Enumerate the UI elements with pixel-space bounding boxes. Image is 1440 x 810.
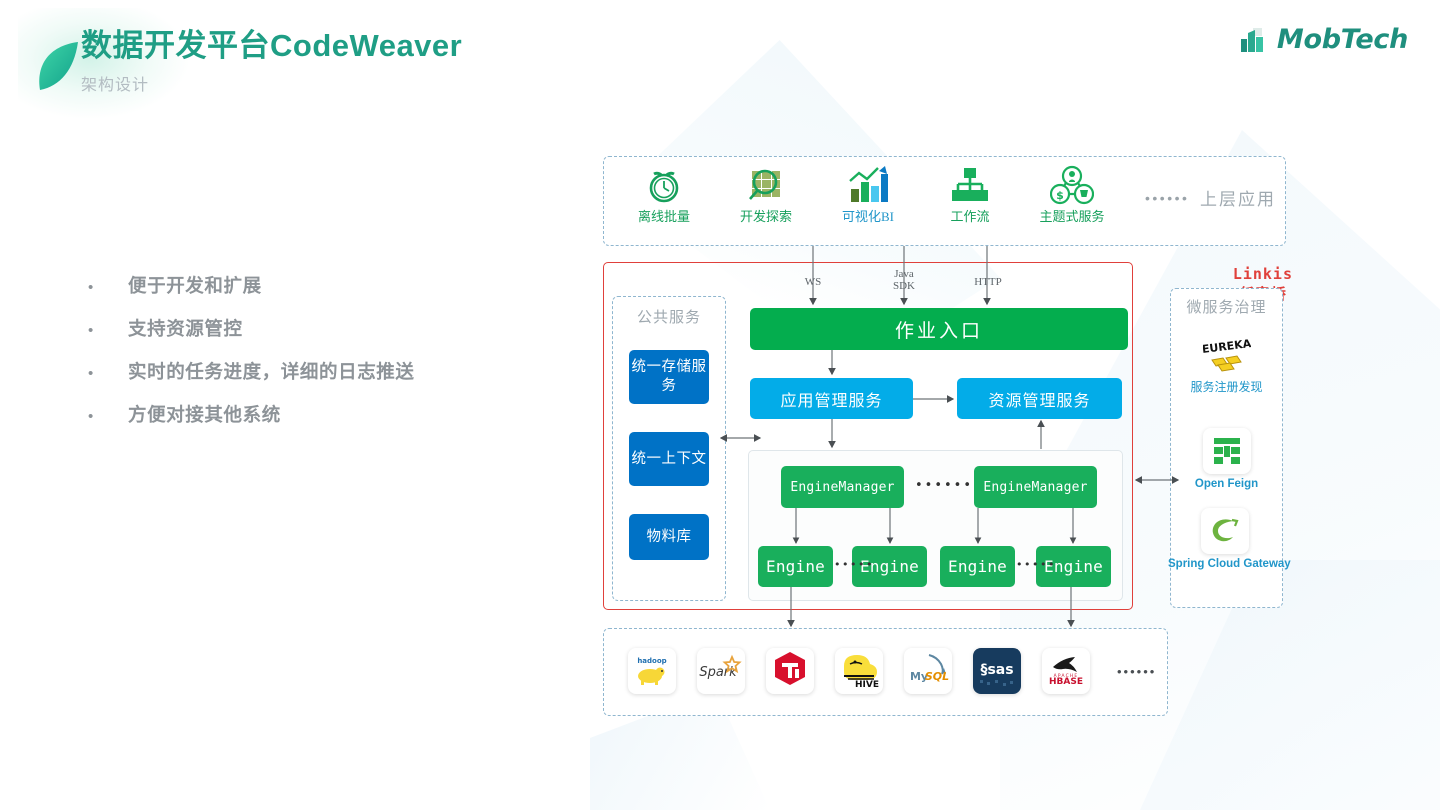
app-item-workflow[interactable]: 工作流 — [936, 164, 1004, 226]
public-services-title: 公共服务 — [612, 306, 726, 327]
microservice-item-open-feign[interactable]: Open Feign — [1170, 428, 1283, 492]
list-item: • 便于开发和扩展 — [88, 272, 415, 315]
microservice-item-eureka[interactable]: EUREKA 服务注册发现 — [1170, 332, 1283, 396]
bullet-marker: • — [88, 408, 128, 425]
datasource-item-hive[interactable]: HIVE — [835, 648, 883, 694]
datasource-item-sas[interactable]: §sas — [973, 648, 1021, 694]
bar-chart-trend-icon — [834, 164, 902, 206]
app-management-service-node[interactable]: 应用管理服务 — [750, 378, 913, 419]
engine-manager-node-2[interactable]: EngineManager — [974, 466, 1097, 508]
brand-name: MobTech — [1277, 24, 1408, 55]
engine-ellipsis-left: ••••• — [834, 558, 874, 571]
brand-logo: MobTech — [1240, 24, 1408, 55]
sas-icon: §sas — [974, 649, 1020, 694]
resource-management-service-node[interactable]: 资源管理服务 — [957, 378, 1122, 419]
job-entry-node[interactable]: 作业入口 — [750, 308, 1128, 350]
datasource-item-mysql[interactable]: My SQL — [904, 648, 952, 694]
public-service-unified-storage[interactable]: 统一存储服务 — [629, 350, 709, 404]
engine-node-3[interactable]: Engine — [940, 546, 1015, 587]
svg-text:hadoop: hadoop — [637, 657, 666, 665]
alarm-clock-icon — [630, 164, 698, 206]
bullet-label: 支持资源管控 — [128, 315, 243, 341]
microservice-item-caption: 服务注册发现 — [1190, 380, 1262, 394]
page-subtitle: 架构设计 — [81, 71, 462, 95]
datasource-item-hbase[interactable]: APACHE HBASE — [1042, 648, 1090, 694]
app-item-label: 离线批量 — [638, 209, 690, 224]
list-item: • 方便对接其他系统 — [88, 401, 415, 444]
eureka-icon: EUREKA — [1203, 332, 1251, 378]
svg-text:§sas: §sas — [980, 662, 1013, 678]
magnifier-grid-icon — [732, 164, 800, 206]
microservice-item-caption: Spring Cloud Gateway — [1168, 558, 1291, 570]
hbase-icon: APACHE HBASE — [1043, 649, 1089, 694]
bullet-marker: • — [88, 279, 128, 296]
engine-manager-node-1[interactable]: EngineManager — [781, 466, 904, 508]
microservice-item-spring-cloud-gateway[interactable]: Spring Cloud Gateway — [1168, 508, 1281, 572]
bullet-list: • 便于开发和扩展 • 支持资源管控 • 实时的任务进度，详细的日志推送 • 方… — [88, 272, 415, 444]
svg-text:HIVE: HIVE — [855, 680, 879, 690]
datasource-item-tidb[interactable] — [766, 648, 814, 694]
svg-text:EUREKA: EUREKA — [1203, 337, 1251, 356]
bullet-label: 方便对接其他系统 — [128, 401, 281, 427]
list-item: • 支持资源管控 — [88, 315, 415, 358]
linkis-label-line1: Linkis — [1233, 264, 1293, 284]
bullet-label: 实时的任务进度，详细的日志推送 — [128, 358, 415, 384]
microservice-item-caption: Open Feign — [1195, 478, 1258, 490]
engine-ellipsis-right: ••••• — [1016, 558, 1056, 571]
app-item-label: 开发探索 — [740, 209, 792, 224]
app-item-offline-batch[interactable]: 离线批量 — [630, 164, 698, 226]
datasource-item-hadoop[interactable]: hadoop — [628, 648, 676, 694]
workflow-tree-icon — [936, 164, 1004, 206]
application-icon-row: 离线批量 开发探索 — [630, 164, 1106, 226]
application-layer-ellipsis: •••••• — [1145, 190, 1189, 206]
hadoop-icon: hadoop — [630, 649, 674, 694]
app-item-label: 主题式服务 — [1039, 209, 1104, 224]
page-title: 数据开发平台CodeWeaver — [81, 26, 462, 66]
app-item-label: 工作流 — [950, 209, 989, 224]
leaf-mark-icon — [34, 40, 82, 92]
app-item-topic-service[interactable]: $ 主题式服务 — [1038, 164, 1106, 226]
datasource-ellipsis: •••••• — [1117, 664, 1156, 679]
architecture-diagram: 离线批量 开发探索 — [600, 150, 1300, 720]
svg-text:SQL: SQL — [925, 670, 949, 683]
public-service-material-library[interactable]: 物料库 — [629, 514, 709, 560]
mysql-icon: My SQL — [905, 649, 951, 694]
engine-node-1[interactable]: Engine — [758, 546, 833, 587]
open-feign-icon — [1203, 428, 1251, 474]
hive-icon: HIVE — [836, 648, 882, 694]
microservice-governance-title: 微服务治理 — [1170, 296, 1283, 317]
svg-text:HBASE: HBASE — [1049, 677, 1083, 687]
service-circles-icon: $ — [1038, 164, 1106, 206]
spark-icon: Spark — [698, 649, 744, 694]
svg-text:Spark: Spark — [699, 665, 737, 680]
app-item-dev-explore[interactable]: 开发探索 — [732, 164, 800, 226]
application-layer-title: 上层应用 — [1200, 185, 1276, 210]
engine-manager-ellipsis: •••••• — [915, 478, 973, 493]
bullet-marker: • — [88, 365, 128, 382]
public-service-unified-context[interactable]: 统一上下文 — [629, 432, 709, 486]
svg-text:$: $ — [1056, 189, 1064, 202]
spring-cloud-gateway-icon — [1201, 508, 1249, 554]
bullet-label: 便于开发和扩展 — [128, 272, 262, 298]
slide-header: 数据开发平台CodeWeaver 架构设计 — [34, 26, 462, 95]
mobtech-bars-icon — [1240, 26, 1270, 54]
bullet-marker: • — [88, 322, 128, 339]
datasource-item-spark[interactable]: Spark — [697, 648, 745, 694]
list-item: • 实时的任务进度，详细的日志推送 — [88, 358, 415, 401]
tidb-icon — [769, 649, 811, 694]
app-item-bi[interactable]: 可视化BI — [834, 164, 902, 226]
app-item-label: 可视化BI — [842, 209, 894, 224]
datasource-icon-row: hadoop Spark — [628, 648, 1156, 694]
